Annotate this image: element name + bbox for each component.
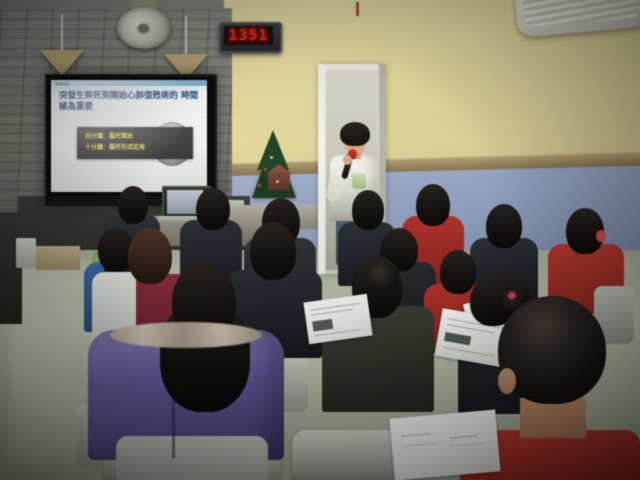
tree-ornament [258, 184, 261, 187]
clock-digits: 1351 [228, 28, 268, 43]
speaker-hair [340, 122, 370, 146]
slide-title: 突發生猝死到開始心肺復甦術的 時間極為重要 [59, 91, 201, 113]
attendee-hair-bun [368, 262, 398, 292]
handout-paper [389, 409, 500, 480]
cardboard-box [36, 246, 80, 270]
projection-screen: 健康講座 突發生猝死到開始心肺復甦術的 時間極為重要 四分鐘：腦死開始 十分鐘：… [51, 80, 207, 192]
slide-bullet-box: 四分鐘：腦死開始 十分鐘：腦死形成定局 [77, 127, 193, 159]
folding-chair [292, 430, 400, 480]
speaker-hand [343, 155, 352, 165]
attendee-head [250, 222, 296, 280]
hair-tie [508, 292, 516, 299]
fan-hub [138, 24, 149, 33]
handout-paper [303, 294, 372, 344]
attendee-neck [520, 398, 586, 438]
attendee-head [196, 188, 230, 230]
attendee-head [416, 184, 450, 226]
attendee-collar [596, 230, 606, 242]
pendant-lamp-icon [40, 50, 84, 76]
attendee-head [486, 204, 522, 248]
tree-ornament [270, 156, 273, 159]
attendee-head [118, 186, 148, 224]
attendee-head [440, 250, 476, 294]
tree-ornament [276, 180, 279, 183]
attendee-head [128, 228, 172, 284]
jacket-fur-trim [110, 322, 262, 348]
slide-bullet-2: 十分鐘：腦死形成定局 [85, 143, 193, 152]
tree-decor-house [268, 172, 290, 190]
door-jamb-left [318, 64, 325, 274]
equipment-rack [0, 212, 22, 324]
floor-bin [16, 238, 36, 268]
speaker-badge [352, 173, 366, 189]
pendant-lamp-rod [61, 14, 63, 52]
attendee-head [352, 190, 384, 230]
folding-chair-seatback [116, 436, 268, 480]
clock-display: 1351 [224, 26, 273, 45]
pendant-lamp-rod [185, 16, 187, 56]
photo-scene: 1351 健康講座 突發生猝死到開始心肺復甦術的 時間極為重要 四分鐘：腦死開始… [0, 0, 640, 480]
tree-ornament [264, 168, 267, 171]
ceiling-wire [356, 2, 359, 16]
slide-bullet-1: 四分鐘：腦死開始 [85, 132, 193, 141]
attendee-ear [498, 368, 516, 394]
